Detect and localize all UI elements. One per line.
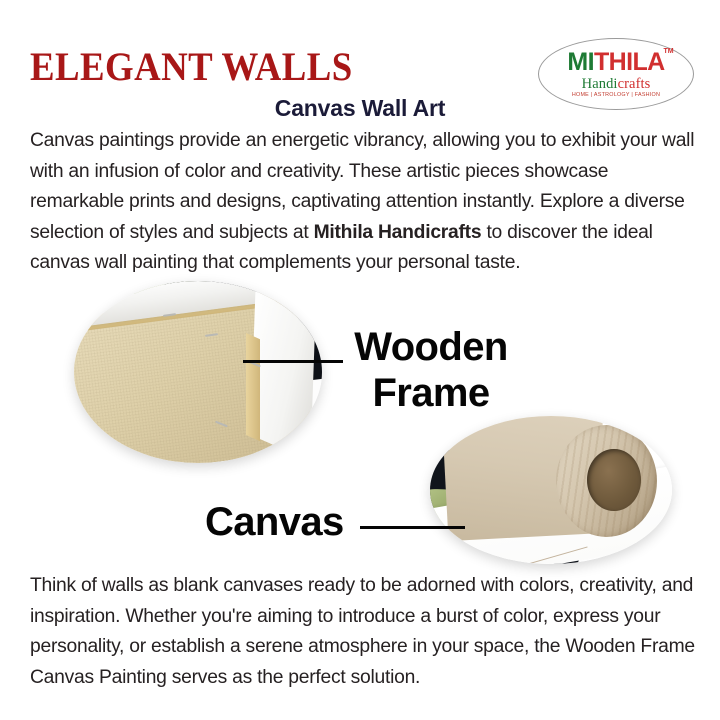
trademark-icon: TM [663,48,673,55]
logo-subword: Handicrafts [582,77,651,92]
logo-wordmark-red: THILA [594,48,665,76]
brand-mention: Mithila Handicrafts [314,222,482,243]
mithila-handicrafts-logo: MITHILA TM Handicrafts HOME | ASTROLOGY … [538,38,694,110]
logo-wordmark-green: MI [567,48,594,76]
wooden-frame-photo [74,281,322,463]
infographic-page: ELEGANT WALLS Canvas Wall Art MITHILA TM… [0,0,720,720]
wooden-frame-label: Wooden Frame [336,327,526,413]
wooden-frame-leader-line [243,360,343,363]
logo-content: MITHILA TM Handicrafts HOME | ASTROLOGY … [539,39,693,109]
intro-paragraph: Canvas paintings provide an energetic vi… [30,126,695,279]
photo-canvas-edge-right [250,284,315,461]
logo-subword-red: crafts [618,76,651,92]
photo-wooden-stretcher-right [246,333,260,441]
logo-tagline: HOME | ASTROLOGY | FASHION [572,93,660,98]
logo-subword-green: Handi [582,76,618,92]
closing-paragraph: Think of walls as blank canvases ready t… [30,571,700,693]
photo-roll-core-hole [587,449,640,511]
page-title: ELEGANT WALLS [30,46,353,88]
logo-wordmark: MITHILA TM [567,50,664,75]
canvas-roll-photo [430,416,672,564]
canvas-label: Canvas [205,502,344,542]
canvas-leader-line [360,526,465,529]
wooden-frame-label-line2: Frame [336,373,526,413]
wooden-frame-label-line1: Wooden [354,325,507,369]
